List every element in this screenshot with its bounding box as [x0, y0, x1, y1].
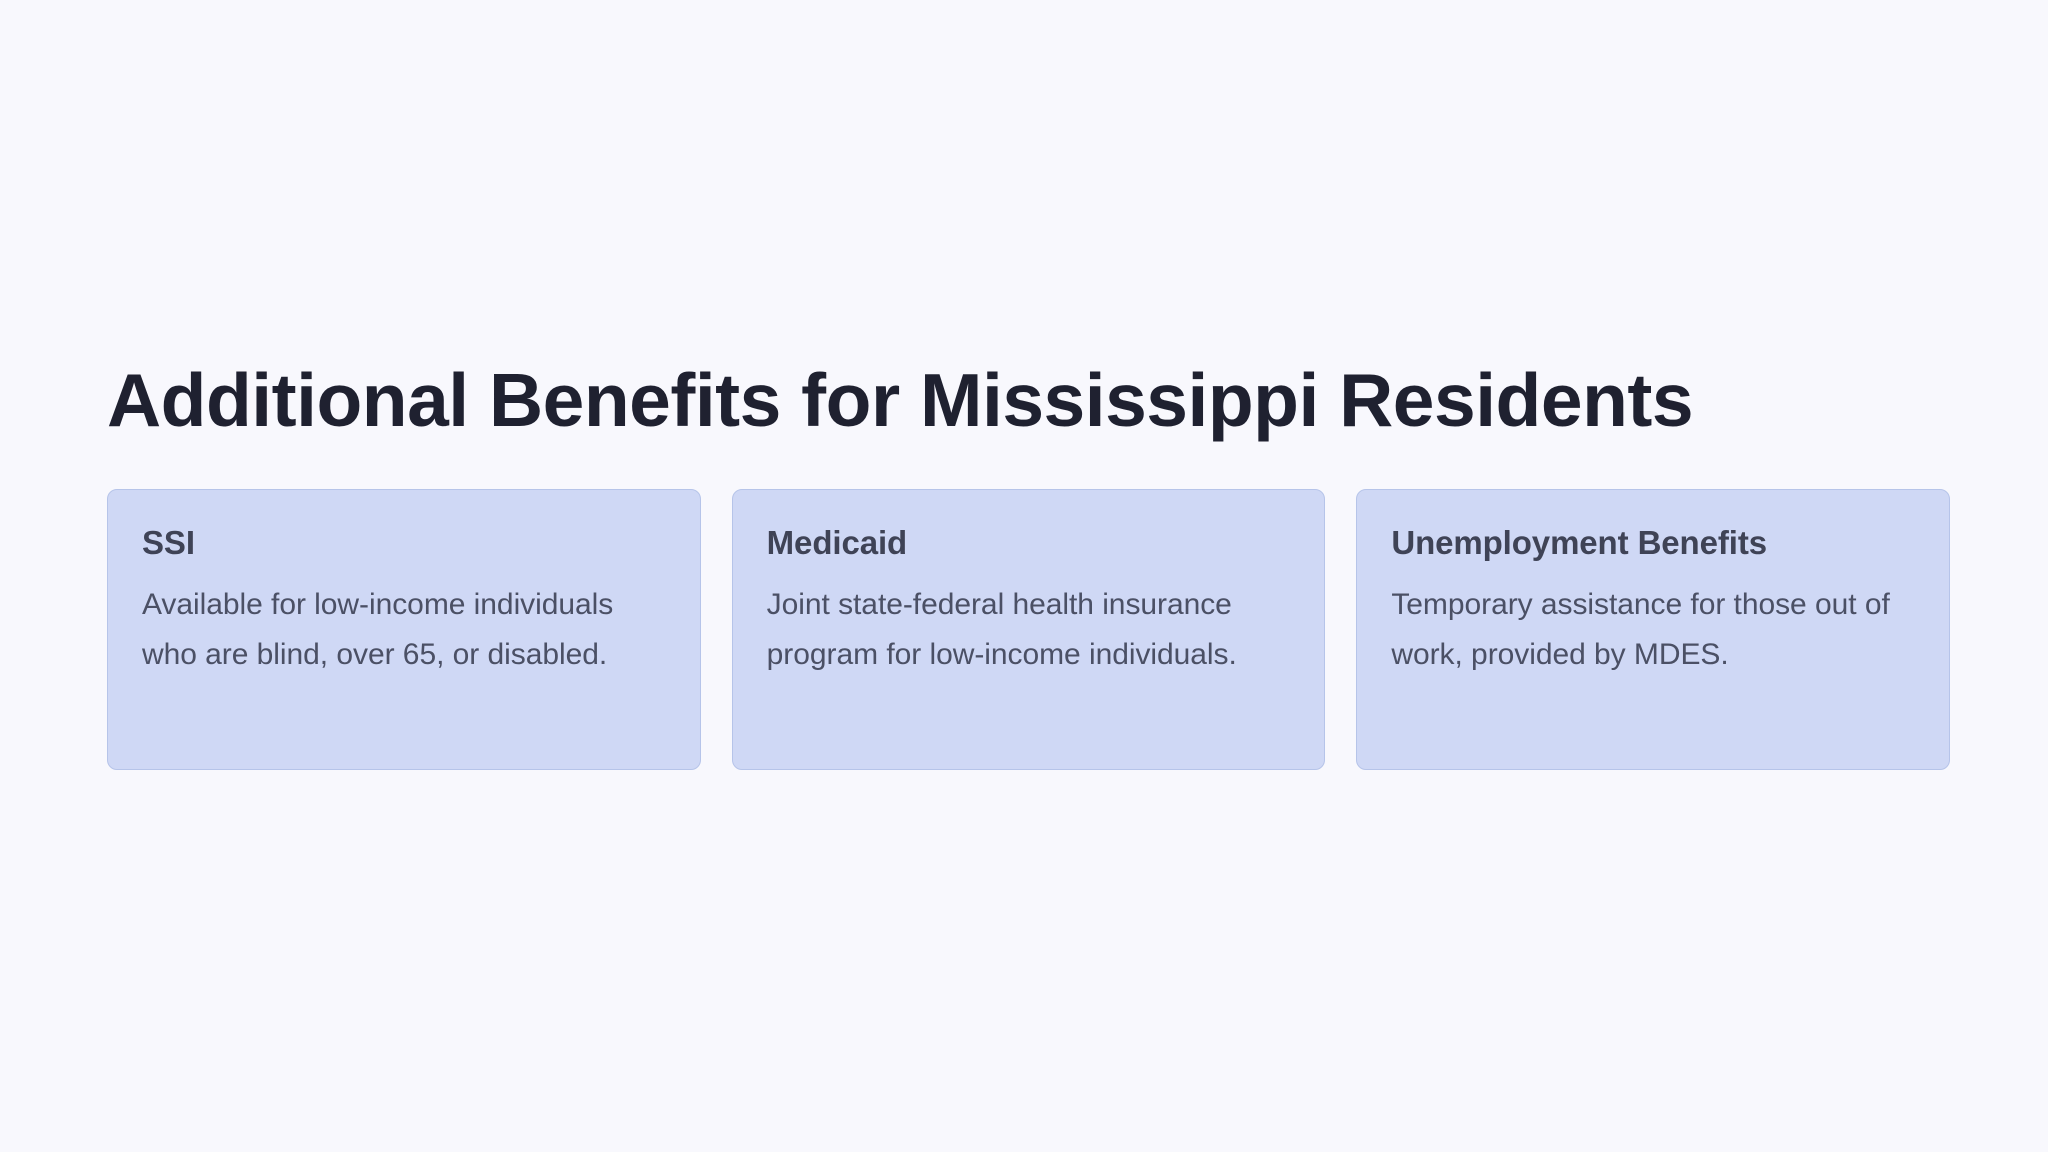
benefit-card-title: Medicaid [767, 523, 1291, 563]
benefits-card-grid: SSI Available for low-income individuals… [107, 489, 1950, 770]
benefit-card-description: Joint state-federal health insurance pro… [767, 580, 1291, 680]
page-title: Additional Benefits for Mississippi Resi… [107, 360, 1950, 441]
benefit-card-medicaid[interactable]: Medicaid Joint state-federal health insu… [732, 489, 1326, 770]
page-root: Additional Benefits for Mississippi Resi… [0, 0, 2048, 1152]
benefit-card-unemployment-benefits[interactable]: Unemployment Benefits Temporary assistan… [1356, 489, 1950, 770]
content-container: Additional Benefits for Mississippi Resi… [107, 360, 1950, 770]
benefit-card-description: Temporary assistance for those out of wo… [1391, 580, 1915, 680]
benefit-card-title: SSI [142, 523, 666, 563]
benefit-card-description: Available for low-income individuals who… [142, 580, 666, 680]
benefit-card-title: Unemployment Benefits [1391, 523, 1915, 563]
benefit-card-ssi[interactable]: SSI Available for low-income individuals… [107, 489, 701, 770]
